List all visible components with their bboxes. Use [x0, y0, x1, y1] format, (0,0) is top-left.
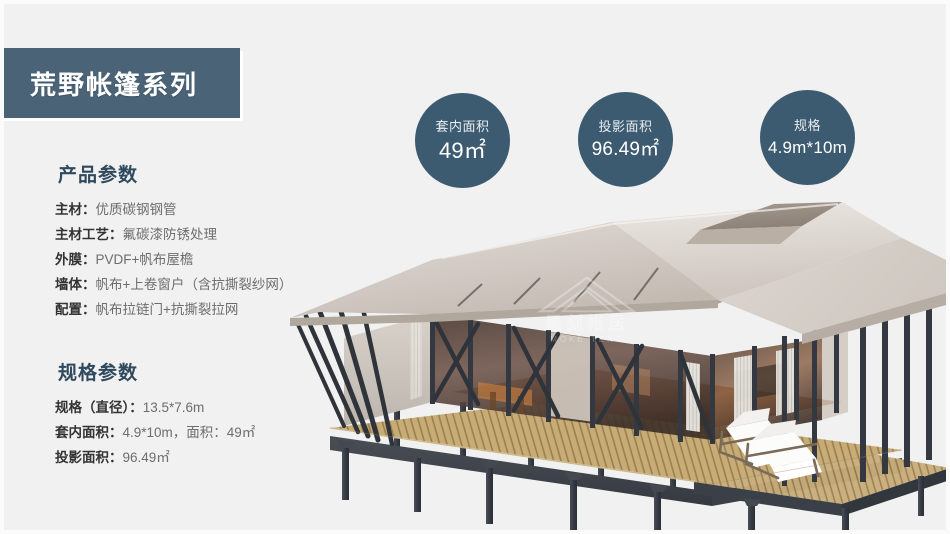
spec-value: 帆布拉链门+抗撕裂拉网: [96, 302, 239, 317]
spec-row: 主材：优质碳钢钢管: [55, 197, 355, 222]
stat-circle-value: 4.9m*10m: [768, 139, 847, 156]
slide-canvas: 荒野帐篷系列 产品参数 主材：优质碳钢钢管 主材工艺：氟碳漆防锈处理 外膜：PV…: [0, 0, 950, 534]
product-params-group: 产品参数 主材：优质碳钢钢管 主材工艺：氟碳漆防锈处理 外膜：PVDF+帆布屋檐…: [55, 160, 355, 322]
title-banner: 荒野帐篷系列: [0, 48, 240, 118]
spec-panel: 产品参数 主材：优质碳钢钢管 主材工艺：氟碳漆防锈处理 外膜：PVDF+帆布屋檐…: [55, 160, 355, 476]
spec-params-heading: 规格参数: [58, 358, 355, 385]
spec-params-group: 规格参数 规格（直径）：13.5*7.6m 套内面积：4.9*10m，面积：49…: [55, 358, 355, 470]
spec-label: 投影面积：: [55, 450, 123, 465]
spec-label: 配置：: [55, 302, 96, 317]
page-title: 荒野帐篷系列: [30, 65, 198, 102]
stat-circle-projected-area: 投影面积 96.49㎡: [578, 92, 673, 187]
spec-label: 套内面积：: [55, 425, 123, 440]
spec-value: 13.5*7.6m: [143, 400, 205, 415]
tent-canopy-roof: [290, 202, 950, 344]
stat-circle-interior-area: 套内面积 49㎡: [415, 93, 510, 188]
spec-row: 墙体：帆布+上卷窗户（含抗撕裂纱网）: [55, 272, 355, 297]
stat-circle-value: 96.49㎡: [592, 140, 660, 159]
spec-value: 4.9*10m，面积：49㎡: [123, 425, 256, 440]
spec-row: 套内面积：4.9*10m，面积：49㎡: [55, 420, 355, 445]
spec-label: 主材工艺：: [55, 227, 123, 242]
spec-row: 规格（直径）：13.5*7.6m: [55, 395, 355, 420]
tent-render-svg: [282, 196, 950, 534]
spec-row: 配置：帆布拉链门+抗撕裂拉网: [55, 297, 355, 322]
spec-label: 规格（直径）：: [55, 400, 143, 415]
spec-value: 帆布+上卷窗户（含抗撕裂纱网）: [96, 277, 293, 292]
stat-circle-dimensions: 规格 4.9m*10m: [760, 90, 855, 185]
spec-label: 外膜：: [55, 252, 96, 267]
stat-circle-label: 规格: [794, 119, 821, 132]
stat-circle-label: 投影面积: [598, 120, 652, 133]
spec-value: 优质碳钢钢管: [96, 202, 177, 217]
stat-circle-value: 49㎡: [439, 140, 486, 162]
spec-row: 投影面积：96.49㎡: [55, 445, 355, 470]
spec-value: 96.49㎡: [123, 450, 170, 465]
product-params-heading: 产品参数: [58, 160, 355, 187]
tent-render-image: 墨刻帐居 MOKE TENT: [282, 196, 950, 534]
group-divider: [55, 328, 355, 358]
spec-label: 主材：: [55, 202, 96, 217]
spec-value: PVDF+帆布屋檐: [96, 252, 194, 267]
spec-row: 外膜：PVDF+帆布屋檐: [55, 247, 355, 272]
spec-row: 主材工艺：氟碳漆防锈处理: [55, 222, 355, 247]
spec-label: 墙体：: [55, 277, 96, 292]
stat-circle-label: 套内面积: [435, 120, 489, 133]
spec-value: 氟碳漆防锈处理: [123, 227, 218, 242]
